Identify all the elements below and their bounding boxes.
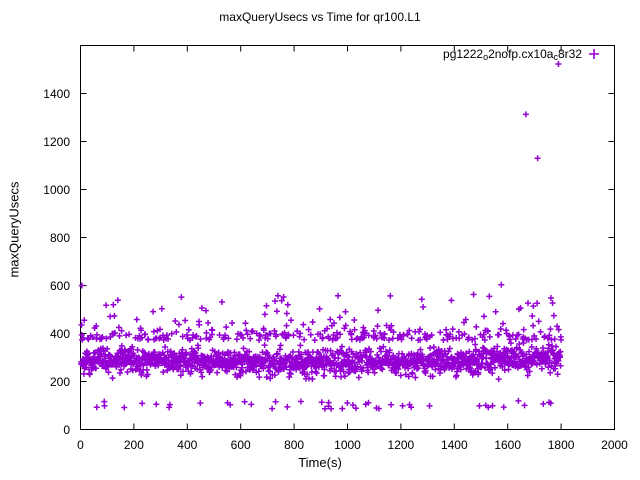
y-tick-label: 600: [10, 280, 70, 292]
data-points: [78, 61, 564, 412]
x-tick-label: 1000: [318, 439, 378, 451]
x-tick-label: 1400: [424, 439, 484, 451]
x-tick-label: 2000: [585, 439, 640, 451]
plot-canvas: [0, 0, 640, 480]
x-tick-label: 0: [51, 439, 111, 451]
y-tick-label: 0: [10, 424, 70, 436]
y-tick-label: 1200: [10, 136, 70, 148]
x-tick-label: 1600: [478, 439, 538, 451]
x-tick-label: 1200: [371, 439, 431, 451]
y-tick-label: 1400: [10, 88, 70, 100]
x-tick-label: 400: [157, 439, 217, 451]
y-tick-label: 200: [10, 376, 70, 388]
y-tick-label: 800: [10, 232, 70, 244]
x-tick-label: 200: [104, 439, 164, 451]
x-tick-label: 600: [211, 439, 271, 451]
y-tick-label: 1000: [10, 184, 70, 196]
x-tick-label: 1800: [531, 439, 591, 451]
chart-root: maxQueryUsecs vs Time for qr100.L1 maxQu…: [0, 0, 640, 480]
y-tick-label: 400: [10, 328, 70, 340]
x-tick-label: 800: [264, 439, 324, 451]
